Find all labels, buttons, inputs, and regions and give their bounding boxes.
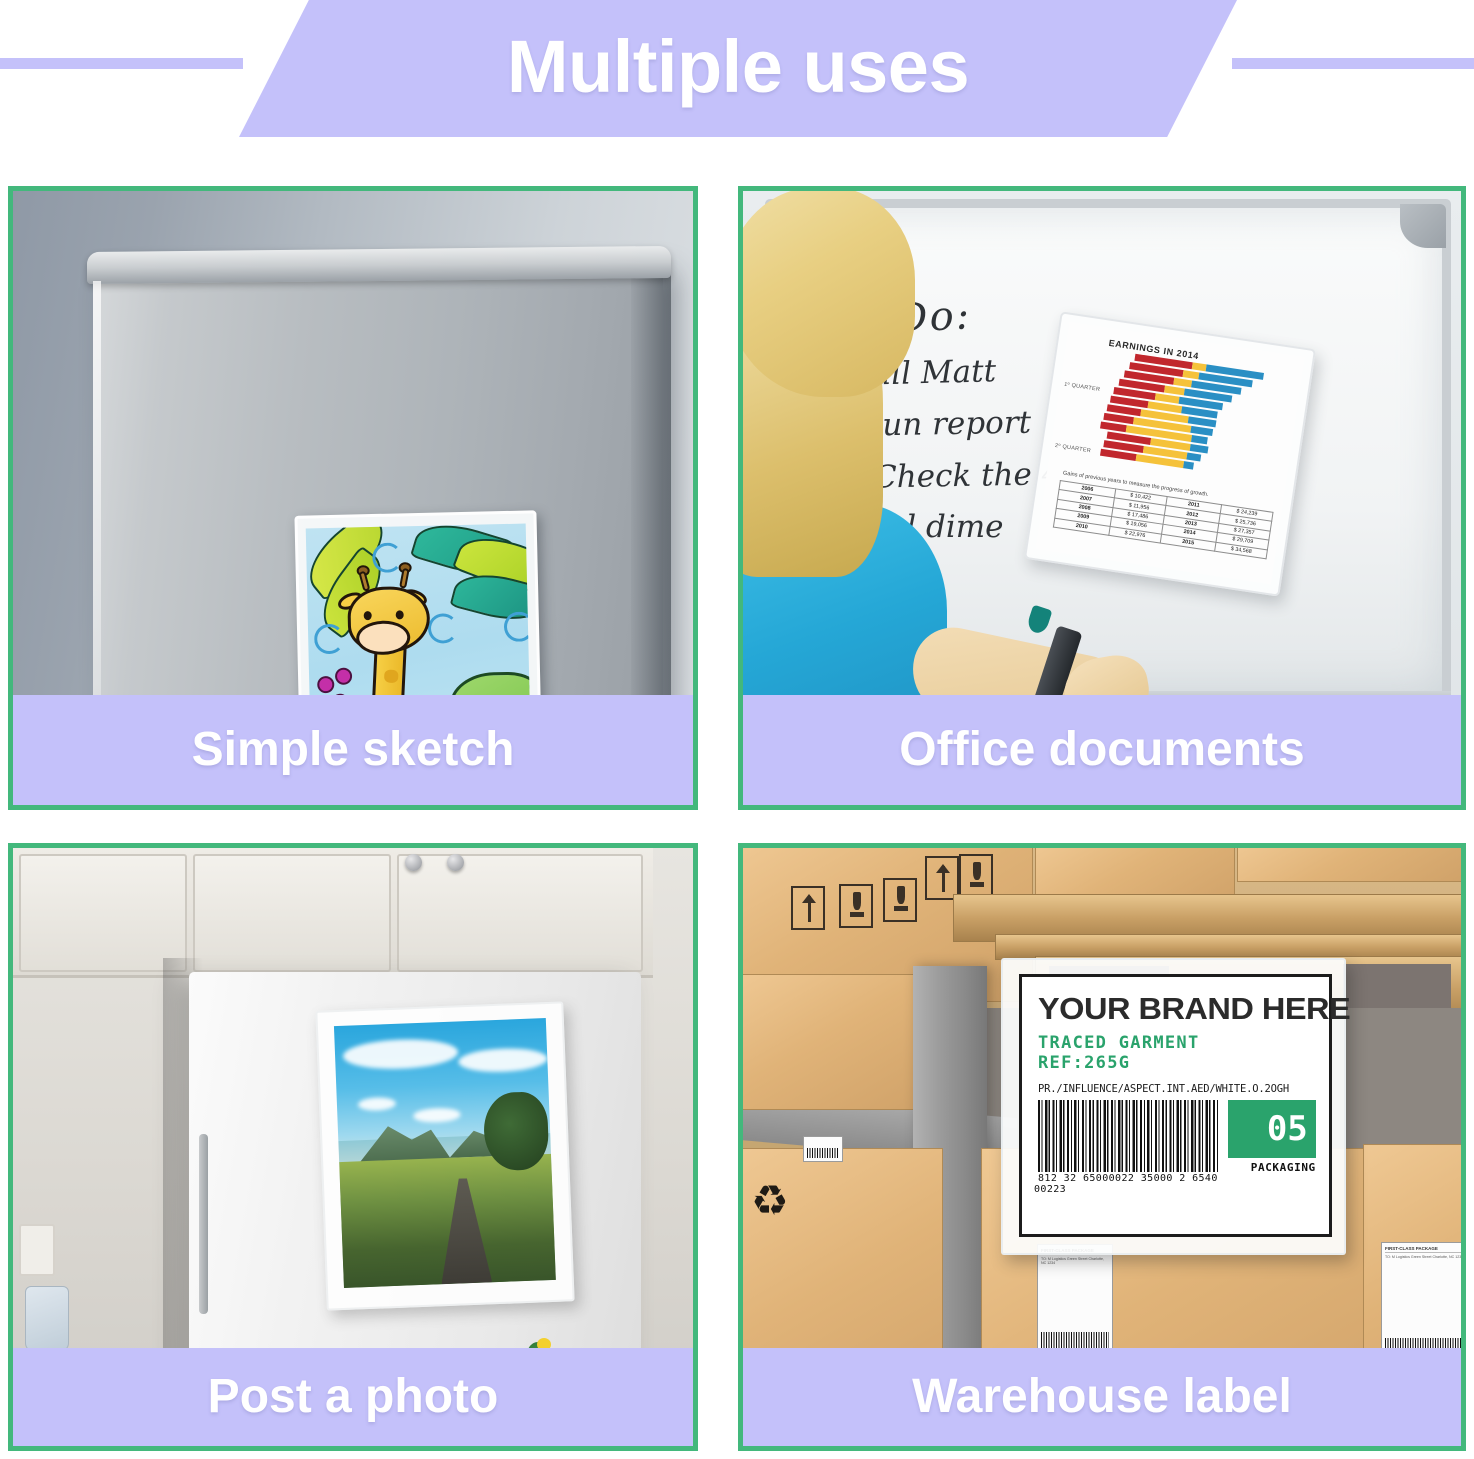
- panel-warehouse-label: ♻ ♻ FIRST-CLASS PACKAGE TO: M Logistics …: [738, 843, 1466, 1451]
- recycle-icon: ♻: [751, 1180, 789, 1222]
- this-way-up-icon: [791, 886, 825, 930]
- person-head: [743, 191, 915, 397]
- header-rule-right: [1232, 58, 1474, 69]
- label-url: PR./INFLUENCE/ASPECT.INT.AED/WHITE.O.2OG…: [1038, 1083, 1315, 1095]
- barcode: [1038, 1100, 1218, 1172]
- photo-sleeve: [315, 1001, 574, 1310]
- chart-table: 2006 $ 10,422 2011 $ 24,239 2007 $ 11,95…: [1053, 480, 1274, 559]
- flower-icon: [335, 668, 352, 685]
- counter-jar: [25, 1286, 69, 1352]
- garment-line: TRACED GARMENT: [1038, 1033, 1315, 1053]
- panel-caption-text: Warehouse label: [912, 1373, 1292, 1421]
- barcode-block: 812 32 65000022 35000 2 6540 00223: [1038, 1100, 1218, 1195]
- panel-caption-bar: Warehouse label: [743, 1348, 1461, 1446]
- header-rule-left: [0, 58, 243, 69]
- chart-document: EARNINGS IN 2014 1º QUARTER 2º QUARTER: [1035, 322, 1304, 585]
- swirl-icon: [504, 611, 533, 642]
- document-sleeve: EARNINGS IN 2014 1º QUARTER 2º QUARTER: [1024, 311, 1316, 596]
- barcode-left-number: 00223: [1034, 1184, 1218, 1195]
- panel-caption-text: Simple sketch: [192, 726, 515, 774]
- panel-caption-bar: Office documents: [743, 695, 1461, 805]
- panel-caption-text: Post a photo: [208, 1373, 499, 1421]
- brand-text: YOUR BRAND HERE: [1038, 993, 1329, 1024]
- status-badge: 05: [1228, 1100, 1316, 1158]
- header-banner: Multiple uses: [239, 0, 1237, 137]
- page-title: Multiple uses: [507, 30, 969, 104]
- umbrella-icon: [883, 878, 917, 922]
- panel-simple-sketch: Simple sketch: [8, 186, 698, 810]
- barcode-digits: 812 32 65000022 35000 2 6540: [1038, 1173, 1218, 1184]
- chart-axis-label: 2º QUARTER: [1054, 443, 1091, 454]
- cloud: [414, 1108, 461, 1123]
- panel-caption-text: Office documents: [899, 726, 1304, 774]
- ref-line: REF:265G: [1038, 1053, 1315, 1073]
- panel-office-documents: To Do: Call Matt Run report Check the 40…: [738, 186, 1466, 810]
- shipping-label-address: TO: M Logistics Green Street Charlotte, …: [1041, 1257, 1109, 1266]
- flower-icon: [317, 676, 334, 693]
- cloud: [358, 1097, 397, 1112]
- refrigerator-top-trim: [87, 246, 671, 284]
- swirl-icon: [314, 624, 345, 655]
- fragile-icon: [839, 884, 873, 928]
- label-sleeve: YOUR BRAND HERE TRACED GARMENT REF:265G …: [1001, 958, 1346, 1255]
- barcode: [807, 1148, 839, 1158]
- cabinet-knob: [447, 854, 464, 871]
- refrigerator-handle: [199, 1134, 208, 1314]
- cardboard-box: [1237, 848, 1461, 882]
- cabinet-knob: [405, 854, 422, 871]
- cloud: [343, 1037, 458, 1070]
- chart-bars: [1096, 350, 1302, 485]
- cloud: [458, 1047, 548, 1074]
- shipping-label-address: TO: M Logistics Green Street Charlotte, …: [1385, 1255, 1461, 1259]
- panel-caption-bar: Post a photo: [13, 1348, 693, 1446]
- swirl-icon: [428, 613, 459, 644]
- fragile-icon: [959, 854, 993, 898]
- landscape-photo: [334, 1018, 556, 1288]
- badge-block: 05 PACKAGING: [1218, 1100, 1316, 1174]
- panel-caption-bar: Simple sketch: [13, 695, 693, 805]
- cabinet-door: [19, 854, 187, 972]
- whiteboard-corner: [1400, 204, 1446, 248]
- badge-number: 05: [1267, 1112, 1308, 1146]
- infographic-root: Multiple uses: [0, 0, 1474, 1459]
- header: Multiple uses: [0, 0, 1474, 170]
- cabinet-door: [397, 854, 643, 972]
- badge-caption: PACKAGING: [1218, 1161, 1316, 1174]
- giraffe-spot: [384, 669, 399, 683]
- label-barcode-row: 812 32 65000022 35000 2 6540 00223 05 PA…: [1038, 1100, 1315, 1195]
- box-shipping-label: FIRST-CLASS PACKAGE TO: M Logistics Gree…: [1037, 1244, 1113, 1364]
- panel-post-a-photo: Post a photo: [8, 843, 698, 1451]
- chart-axis-label: 1º QUARTER: [1064, 382, 1101, 393]
- cabinet-door: [193, 854, 391, 972]
- wall-outlet: [19, 1224, 55, 1276]
- kitchen-cabinets: [13, 848, 653, 978]
- box-shipping-label: [803, 1136, 843, 1162]
- shipping-label-title: FIRST-CLASS PACKAGE: [1385, 1246, 1461, 1253]
- warehouse-label-card: YOUR BRAND HERE TRACED GARMENT REF:265G …: [1019, 974, 1332, 1237]
